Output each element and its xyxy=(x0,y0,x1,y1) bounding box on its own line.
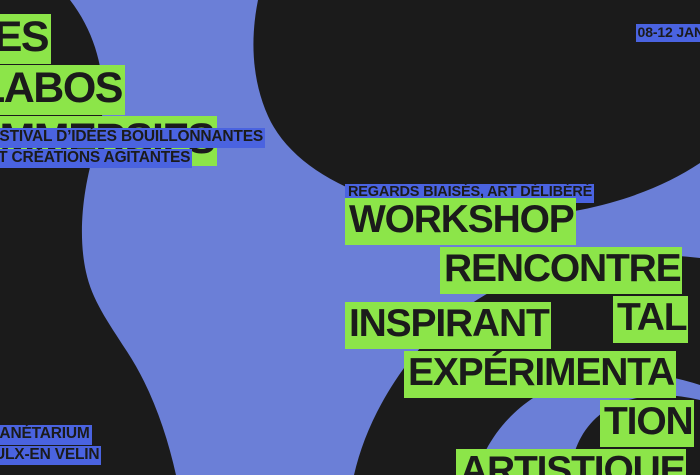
venue-line-2-text: VAULX-EN VELIN xyxy=(0,446,101,466)
program-quality-tion-text: TION xyxy=(600,400,694,447)
program-quality-tion: TION xyxy=(0,400,700,447)
masthead-line-1: LES xyxy=(0,14,217,64)
program-quality-inspirant-text: INSPIRANT xyxy=(345,302,551,349)
poster-canvas: LES LABOS IMMERSIFS FESTIVAL D’IDÉES BOU… xyxy=(0,0,700,475)
masthead-line-2: LABOS xyxy=(0,65,217,115)
program-quality-artistique-text: ARTISTIQUE xyxy=(456,449,686,475)
program-qualities-stack: INSPIRANT EXPÉRIMENTA TION ARTISTIQUE xyxy=(0,302,700,475)
masthead-line-2-text: LABOS xyxy=(0,65,125,115)
subtitle-line-2: ET CRÉATIONS AGITANTES xyxy=(0,149,265,169)
venue-line-2: VAULX-EN VELIN xyxy=(0,446,101,466)
subtitle-line-1-text: FESTIVAL D’IDÉES BOUILLONNANTES xyxy=(0,128,265,148)
program-quality-experimenta-text: EXPÉRIMENTA xyxy=(404,351,676,398)
program-format-workshop-text: WORKSHOP xyxy=(345,198,576,245)
program-format-rencontre: RENCONTRE xyxy=(0,247,700,294)
venue-block: PLANÉTARIUM VAULX-EN VELIN xyxy=(0,425,101,466)
venue-line-1-text: PLANÉTARIUM xyxy=(0,425,92,445)
masthead-line-1-text: LES xyxy=(0,14,51,64)
venue-line-1: PLANÉTARIUM xyxy=(0,425,101,445)
program-format-workshop: WORKSHOP xyxy=(0,198,700,245)
date-badge-text: 08-12 JAN xyxy=(636,24,700,42)
program-quality-experimenta: EXPÉRIMENTA xyxy=(0,351,700,398)
subtitle-line-2-text: ET CRÉATIONS AGITANTES xyxy=(0,149,192,169)
date-badge: 08-12 JAN xyxy=(636,24,700,42)
subtitle-line-1: FESTIVAL D’IDÉES BOUILLONNANTES xyxy=(0,128,265,148)
program-quality-inspirant: INSPIRANT xyxy=(0,302,700,349)
program-format-rencontre-text: RENCONTRE xyxy=(440,247,682,294)
program-quality-artistique: ARTISTIQUE xyxy=(0,449,700,475)
subtitle-block: FESTIVAL D’IDÉES BOUILLONNANTES ET CRÉAT… xyxy=(0,128,265,169)
